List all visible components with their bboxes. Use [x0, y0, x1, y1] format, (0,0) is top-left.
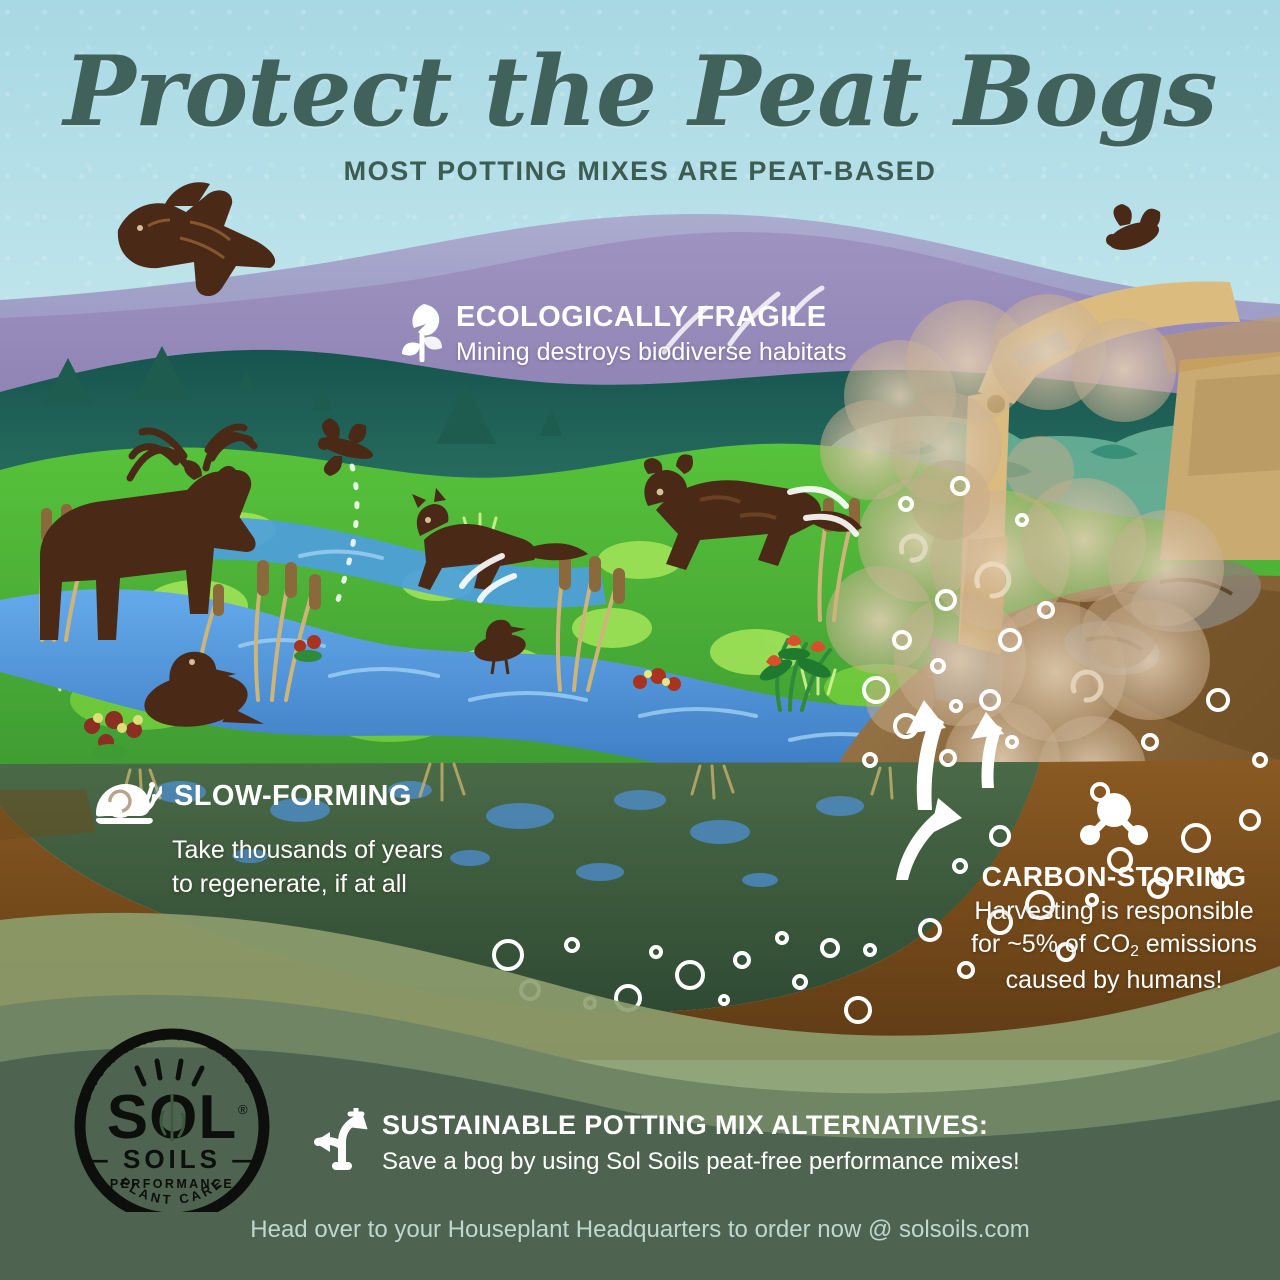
logo-registered: ®: [238, 1102, 248, 1117]
callout-body-line-3: caused by humans!: [960, 964, 1268, 997]
snail-icon: [92, 778, 162, 831]
page-subtitle: MOST POTTING MIXES ARE PEAT-BASED: [0, 156, 1280, 187]
callout-slow-forming: SLOW-FORMING Take thousands of years to …: [92, 778, 512, 901]
callout-heading: ECOLOGICALLY FRAGILE: [456, 300, 846, 334]
branching-arrow-icon: [312, 1108, 368, 1175]
page-title: Protect the Peat Bogs: [0, 44, 1280, 140]
molecule-icon: [1078, 833, 1150, 850]
co2-subscript: 2: [1130, 943, 1139, 960]
sprout-leaf-icon: [400, 300, 444, 367]
cta-block: SUSTAINABLE POTTING MIX ALTERNATIVES: Sa…: [312, 1108, 1072, 1178]
callout-body-line-2: for ~5% of CO2 emissions: [960, 928, 1268, 964]
callout-body-line-2: to regenerate, if at all: [172, 867, 512, 901]
co2-text-pre: for ~5% of CO: [971, 930, 1130, 958]
website-url-line[interactable]: Head over to your Houseplant Headquarter…: [0, 1216, 1280, 1244]
callout-carbon-storing: CARBON-STORING Harvesting is responsible…: [960, 790, 1268, 997]
cta-body: Save a bog by using Sol Soils peat-free …: [382, 1145, 1020, 1178]
callout-body: Mining destroys biodiverse habitats: [456, 336, 846, 368]
infographic-poster: Protect the Peat Bogs MOST POTTING MIXES…: [0, 0, 1280, 1280]
logo-word-soils: — SOILS —: [82, 1144, 262, 1174]
cta-heading: SUSTAINABLE POTTING MIX ALTERNATIVES:: [382, 1108, 1020, 1142]
bee: [1106, 204, 1163, 255]
callout-ecologically-fragile: ECOLOGICALLY FRAGILE Mining destroys bio…: [400, 300, 920, 368]
sol-soils-logo[interactable]: GROW HAPPY PLANTS™ SOL ® — SOILS — PERFO…: [62, 1022, 282, 1212]
callout-body-line-1: Harvesting is responsible: [960, 895, 1268, 928]
co2-text-post: emissions: [1139, 930, 1257, 958]
callout-heading: CARBON-STORING: [960, 859, 1268, 895]
callout-body-line-1: Take thousands of years: [172, 833, 512, 867]
callout-heading: SLOW-FORMING: [174, 778, 412, 814]
